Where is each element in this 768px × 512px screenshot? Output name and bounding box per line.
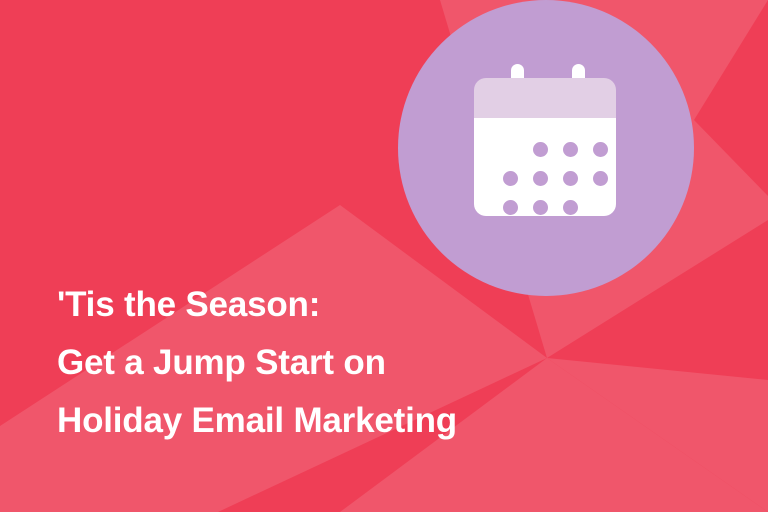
- calendar-header-band: [474, 78, 616, 118]
- calendar-dot: [563, 171, 578, 186]
- calendar-dot: [593, 142, 608, 157]
- calendar-icon: [474, 64, 616, 216]
- calendar-dot: [503, 200, 518, 215]
- wedge-top-right: [694, 0, 768, 196]
- calendar-dot: [563, 200, 578, 215]
- headline-block: 'Tis the Season: Get a Jump Start on Hol…: [57, 276, 697, 450]
- marketing-banner: 'Tis the Season: Get a Jump Start on Hol…: [0, 0, 768, 512]
- calendar-dot: [533, 142, 548, 157]
- headline-line-3: Holiday Email Marketing: [57, 392, 697, 450]
- calendar-dot: [533, 200, 548, 215]
- calendar-dot: [533, 171, 548, 186]
- headline-line-2: Get a Jump Start on: [57, 334, 697, 392]
- calendar-dot: [563, 142, 578, 157]
- calendar-body: [474, 118, 616, 216]
- calendar-dot: [593, 171, 608, 186]
- calendar-dot: [503, 171, 518, 186]
- headline-line-1: 'Tis the Season:: [57, 276, 697, 334]
